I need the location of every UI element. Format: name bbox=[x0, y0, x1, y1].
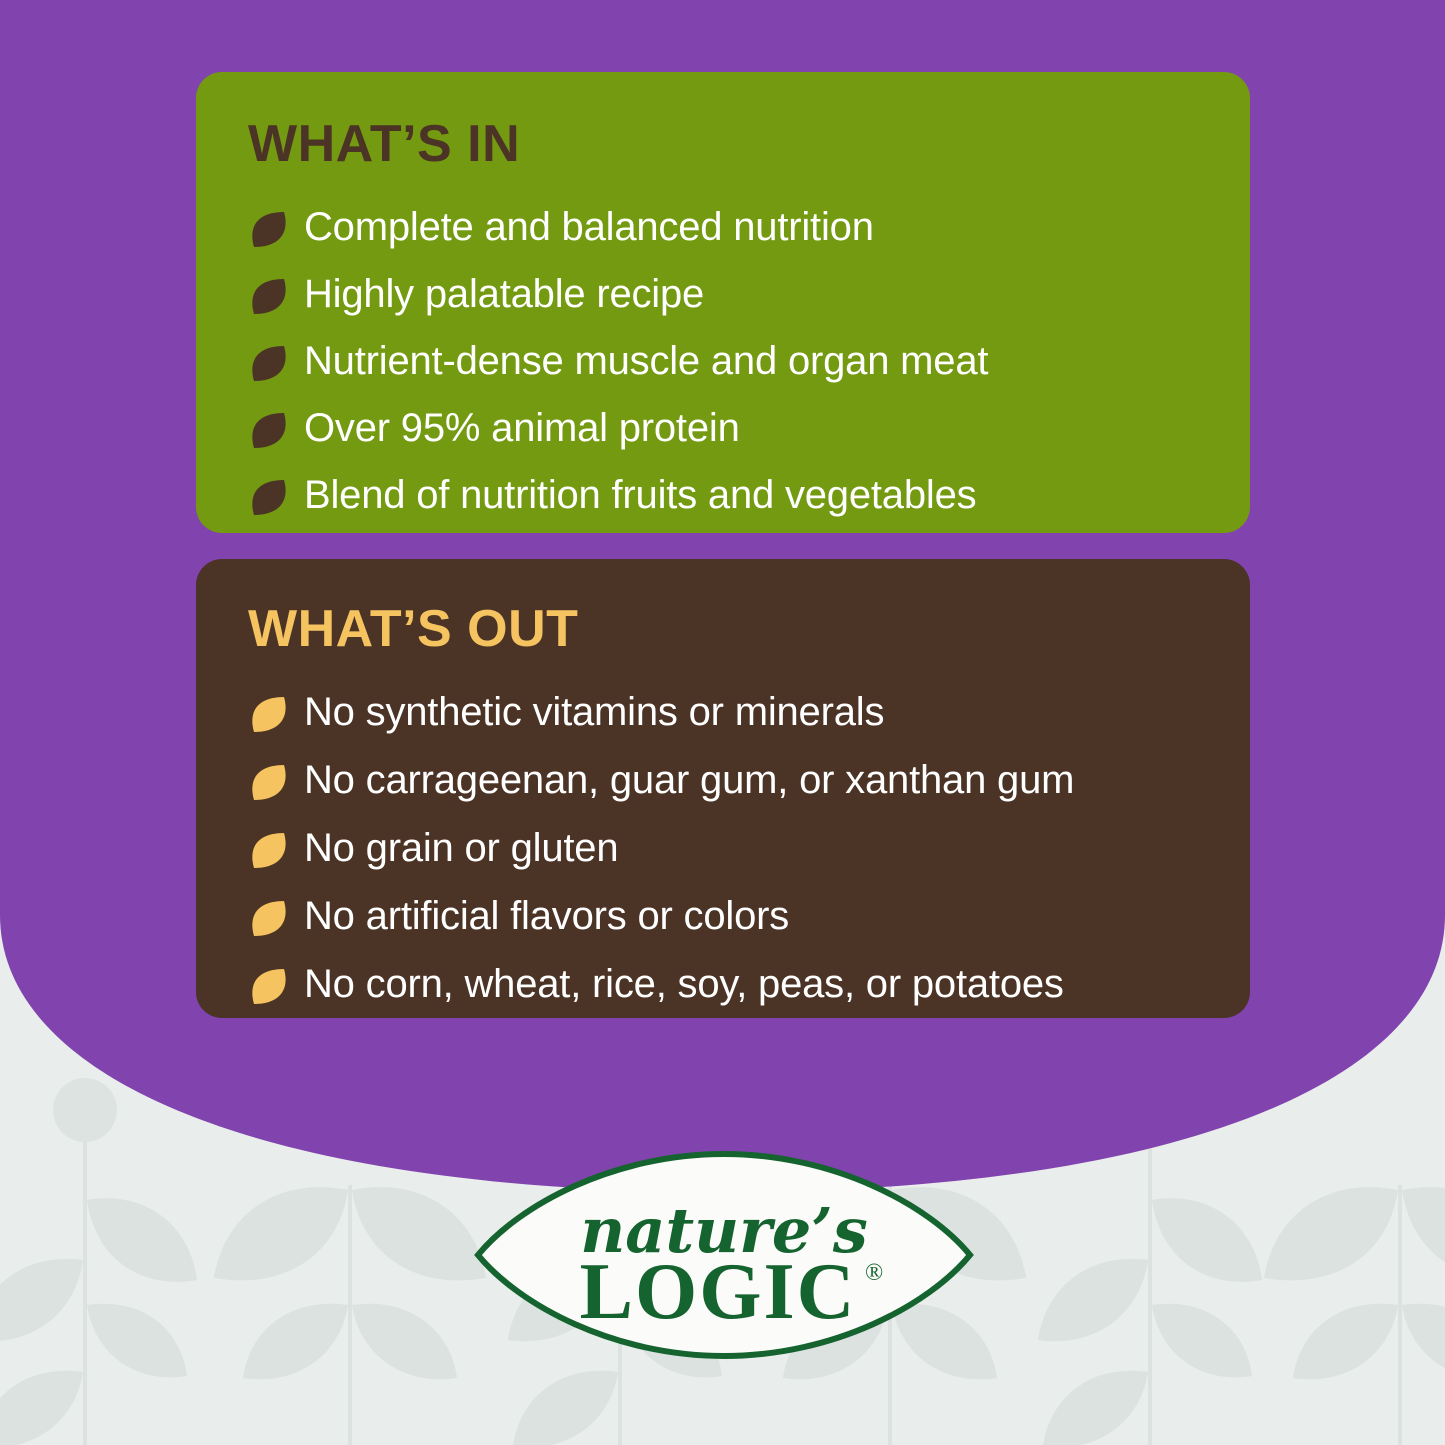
leaf-icon bbox=[248, 761, 292, 807]
list-item: Blend of nutrition fruits and vegetables bbox=[248, 472, 1210, 522]
list-item: No corn, wheat, rice, soy, peas, or pota… bbox=[248, 961, 1210, 1011]
list-item: Highly palatable recipe bbox=[248, 271, 1210, 321]
natures-logic-logo: nature’s LOGIC ® bbox=[474, 1150, 974, 1360]
list-item-label: Highly palatable recipe bbox=[304, 271, 704, 317]
whats-in-heading: WHAT’S IN bbox=[248, 118, 1210, 170]
list-item-label: Blend of nutrition fruits and vegetables bbox=[304, 472, 976, 518]
list-item-label: No synthetic vitamins or minerals bbox=[304, 689, 884, 735]
logo-wordmark-text: LOGIC bbox=[580, 1248, 857, 1336]
leaf-icon bbox=[248, 693, 292, 739]
whats-out-card: WHAT’S OUT No synthetic vitamins or mine… bbox=[196, 559, 1250, 1018]
leaf-icon bbox=[248, 829, 292, 875]
list-item: Complete and balanced nutrition bbox=[248, 204, 1210, 254]
leaf-icon bbox=[248, 275, 292, 321]
list-item-label: Nutrient-dense muscle and organ meat bbox=[304, 338, 988, 384]
registered-trademark-icon: ® bbox=[865, 1260, 883, 1286]
list-item: Over 95% animal protein bbox=[248, 405, 1210, 455]
list-item-label: No artificial flavors or colors bbox=[304, 893, 789, 939]
whats-out-heading: WHAT’S OUT bbox=[248, 603, 1210, 655]
list-item: No synthetic vitamins or minerals bbox=[248, 689, 1210, 739]
list-item-label: No carrageenan, guar gum, or xanthan gum bbox=[304, 757, 1074, 803]
list-item-label: No grain or gluten bbox=[304, 825, 618, 871]
list-item: No carrageenan, guar gum, or xanthan gum bbox=[248, 757, 1210, 807]
leaf-icon bbox=[248, 476, 292, 522]
list-item-label: Over 95% animal protein bbox=[304, 405, 740, 451]
list-item-label: No corn, wheat, rice, soy, peas, or pota… bbox=[304, 961, 1064, 1007]
leaf-icon bbox=[248, 409, 292, 455]
product-info-graphic: WHAT’S IN Complete and balanced nutritio… bbox=[0, 0, 1445, 1445]
leaf-icon bbox=[248, 342, 292, 388]
list-item: No artificial flavors or colors bbox=[248, 893, 1210, 943]
leaf-icon bbox=[248, 965, 292, 1011]
whats-in-card: WHAT’S IN Complete and balanced nutritio… bbox=[196, 72, 1250, 533]
list-item: Nutrient-dense muscle and organ meat bbox=[248, 338, 1210, 388]
list-item: No grain or gluten bbox=[248, 825, 1210, 875]
leaf-icon bbox=[248, 897, 292, 943]
whats-out-list: No synthetic vitamins or minerals No car… bbox=[248, 689, 1210, 1011]
whats-in-list: Complete and balanced nutrition Highly p… bbox=[248, 204, 1210, 522]
list-item-label: Complete and balanced nutrition bbox=[304, 204, 874, 250]
leaf-icon bbox=[248, 208, 292, 254]
